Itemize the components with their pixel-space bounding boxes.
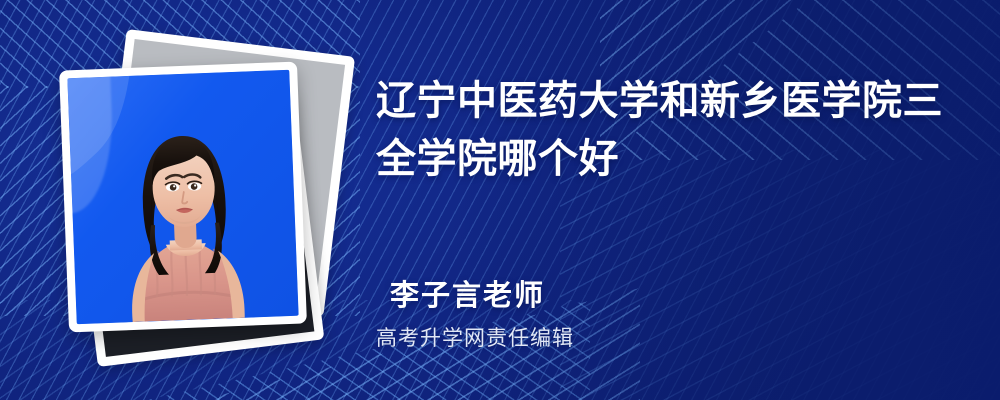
author-role: 高考升学网责任编辑 [376, 322, 574, 352]
article-cover-banner: 辽宁中医药大学和新乡医学院三全学院哪个好 李子言老师 高考升学网责任编辑 [0, 0, 1000, 400]
page-title: 辽宁中医药大学和新乡医学院三全学院哪个好 [376, 72, 956, 188]
author-photo-stack [52, 38, 352, 358]
author-photo-frame [59, 62, 307, 333]
author-name: 李子言老师 [390, 272, 545, 314]
text-column: 辽宁中医药大学和新乡医学院三全学院哪个好 李子言老师 高考升学网责任编辑 [376, 0, 976, 400]
avatar [67, 70, 298, 324]
